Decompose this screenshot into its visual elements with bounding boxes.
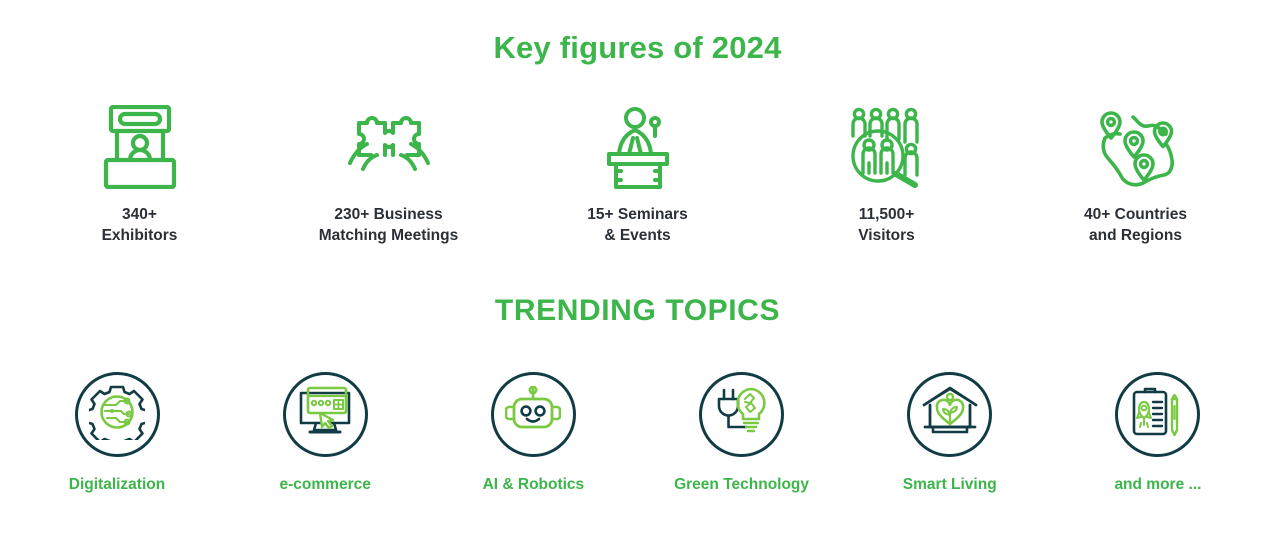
plug-lightbulb-recycle-icon — [713, 385, 771, 444]
trending-topic-label: Green Technology — [674, 475, 809, 495]
trending-topic-item[interactable]: e-commerce — [230, 372, 420, 495]
trending-topic-label: e-commerce — [280, 475, 371, 495]
gear-circuit-icon — [89, 384, 145, 445]
key-figure-item: 11,500+ Visitors — [769, 104, 1004, 246]
trending-topics-heading: TRENDING TOPICS — [0, 292, 1275, 330]
key-figures-row: 340+ Exhibitors — [0, 104, 1275, 246]
trending-topic-item[interactable]: Smart Living — [855, 372, 1045, 495]
puzzle-handshake-icon — [341, 104, 437, 190]
trending-topics-row: Digitalization — [0, 372, 1275, 495]
key-figure-item: 230+ Business Matching Meetings — [271, 104, 506, 246]
topic-circle[interactable] — [283, 372, 368, 457]
trending-topic-item[interactable]: AI & Robotics — [438, 372, 628, 495]
trending-topic-item[interactable]: Digitalization — [22, 372, 212, 495]
magnifier-crowd-icon — [845, 104, 929, 190]
key-figure-item: 40+ Countries and Regions — [1018, 104, 1253, 246]
house-heart-plant-icon — [921, 386, 979, 443]
topic-circle[interactable] — [1115, 372, 1200, 457]
key-figure-label: 40+ Countries and Regions — [1084, 204, 1187, 246]
map-pins-icon — [1087, 104, 1185, 190]
topic-circle[interactable] — [491, 372, 576, 457]
key-figure-item: 15+ Seminars & Events — [520, 104, 755, 246]
clipboard-pencil-icon — [1131, 385, 1185, 444]
key-figure-label: 15+ Seminars & Events — [587, 204, 687, 246]
key-figure-label: 11,500+ Visitors — [858, 204, 915, 246]
key-figure-label: 230+ Business Matching Meetings — [319, 204, 459, 246]
topic-circle[interactable] — [907, 372, 992, 457]
key-figures-page: Key figures of 2024 340+ Exhibitors — [0, 0, 1275, 533]
topic-circle[interactable] — [699, 372, 784, 457]
speaker-podium-icon — [599, 104, 677, 190]
monitor-shopping-icon — [296, 385, 354, 444]
trending-topic-label: Digitalization — [69, 475, 165, 495]
key-figure-label: 340+ Exhibitors — [102, 204, 178, 246]
topic-circle[interactable] — [75, 372, 160, 457]
key-figures-heading: Key figures of 2024 — [0, 29, 1275, 67]
trending-topic-item[interactable]: Green Technology — [647, 372, 837, 495]
exhibition-booth-icon — [102, 104, 178, 190]
robot-head-icon — [505, 386, 561, 443]
trending-topic-item[interactable]: and more ... — [1063, 372, 1253, 495]
trending-topic-label: Smart Living — [903, 475, 997, 495]
key-figure-item: 340+ Exhibitors — [22, 104, 257, 246]
trending-topic-label: AI & Robotics — [483, 475, 585, 495]
trending-topic-label: and more ... — [1114, 475, 1201, 495]
